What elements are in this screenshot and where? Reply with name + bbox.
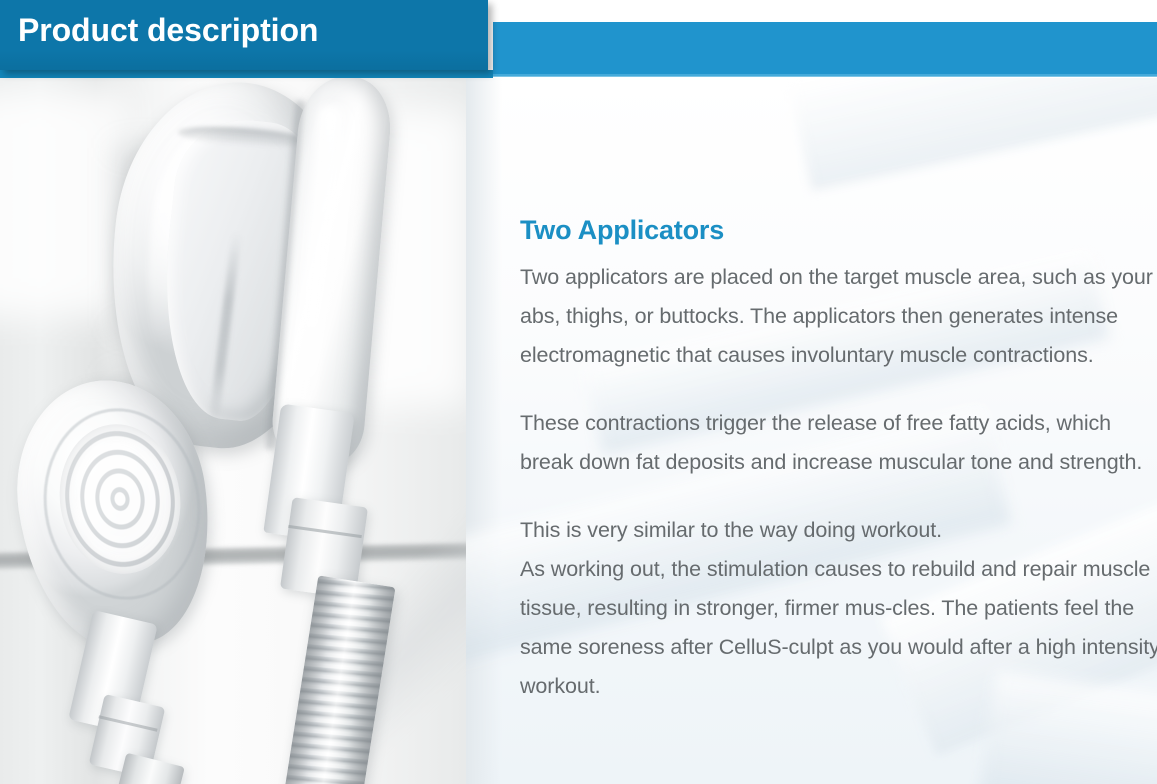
header: Product description — [0, 0, 1157, 80]
description-paragraph-2: These contractions trigger the release o… — [520, 404, 1157, 482]
description-paragraph-1: Two applicators are placed on the target… — [520, 258, 1157, 375]
page-title: Product description — [18, 12, 318, 49]
section-heading: Two Applicators — [520, 215, 724, 246]
header-tab-base — [0, 70, 493, 78]
header-accent-bar — [493, 22, 1157, 76]
description-body: Two applicators are placed on the target… — [520, 258, 1157, 706]
small-applicator — [14, 380, 244, 784]
description-panel: Two Applicators Two applicators are plac… — [466, 78, 1157, 784]
panel-streak-1 — [789, 78, 1157, 190]
product-photo — [0, 78, 466, 784]
header-tab: Product description — [0, 0, 488, 70]
description-paragraph-3: This is very similar to the way doing wo… — [520, 511, 1157, 706]
header-accent-bar-edge — [493, 74, 1157, 77]
panel-left-edge-shade — [466, 78, 502, 784]
product-description-slide: Product description — [0, 0, 1157, 784]
